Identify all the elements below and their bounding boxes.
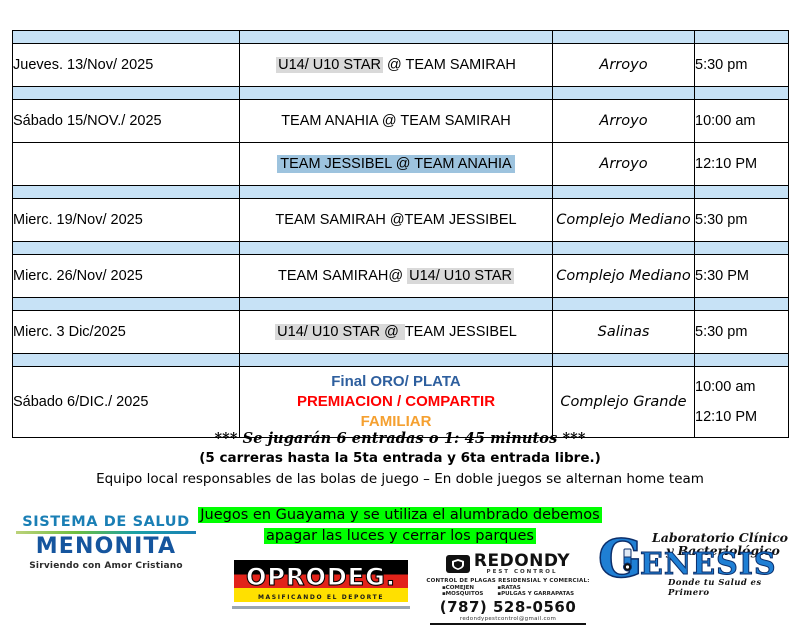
table-row-final: Sábado 6/DIC./ 2025 Final ORO/ PLATA PRE… [13, 367, 789, 438]
final-date: Sábado 6/DIC./ 2025 [13, 367, 240, 438]
row-match: U14/ U10 STAR @ TEAM JESSIBEL [240, 311, 553, 354]
oprodeg-tagline: MASIFICANDO EL DEPORTE [234, 594, 408, 601]
final-line-familiar: FAMILIAR [240, 412, 552, 432]
row-time: 5:30 pm [695, 199, 789, 242]
final-times: 10:00 am 12:10 PM [695, 367, 789, 438]
separator-cell [13, 354, 240, 367]
final-match: Final ORO/ PLATA PREMIACION / COMPARTIR … [240, 367, 553, 438]
table-row: Mierc. 3 Dic/2025 U14/ U10 STAR @ TEAM J… [13, 311, 789, 354]
schedule-flyer: Jueves. 13/Nov/ 2025 U14/ U10 STAR @ TEA… [0, 0, 800, 623]
final-venue: Complejo Grande [553, 367, 695, 438]
redondy-email: redondypestcontrol@gmail.com [424, 616, 592, 622]
note-line-1-text: Se jugarán 6 entradas o 1: 45 minutos [243, 430, 558, 447]
green-note-line-1-wrap: Juegos en Guayama y se utiliza el alumbr… [0, 505, 800, 526]
separator-cell [240, 298, 553, 311]
schedule-table-wrapper: Jueves. 13/Nov/ 2025 U14/ U10 STAR @ TEA… [12, 30, 788, 438]
separator-cell [695, 87, 789, 100]
notes-block: *** Se jugarán 6 entradas o 1: 45 minuto… [0, 430, 800, 487]
separator-row [13, 298, 789, 311]
separator-cell [240, 354, 553, 367]
row-venue: Arroyo [553, 44, 695, 87]
green-note-line-1: Juegos en Guayama y se utiliza el alumbr… [198, 507, 601, 523]
separator-cell [13, 186, 240, 199]
menonita-tagline: Sirviendo con Amor Cristiano [8, 561, 204, 571]
final-time-1: 10:00 am [695, 372, 788, 402]
row-time: 10:00 am [695, 100, 789, 143]
table-row: Sábado 15/NOV./ 2025 TEAM ANAHIA @ TEAM … [13, 100, 789, 143]
stars-left: *** [214, 430, 242, 447]
row-match: U14/ U10 STAR @ TEAM SAMIRAH [240, 44, 553, 87]
match-post: @ TEAM SAMIRAH [383, 57, 516, 73]
separator-row [13, 31, 789, 44]
redondy-items-left: COMEJEN MOSQUITOS [442, 585, 483, 597]
row-time: 12:10 PM [695, 143, 789, 186]
row-date: Sábado 15/NOV./ 2025 [13, 100, 240, 143]
note-line-2: (5 carreras hasta la 5ta entrada y 6ta e… [0, 450, 800, 466]
final-line-premiacion: PREMIACION / COMPARTIR [240, 392, 552, 412]
row-date [13, 143, 240, 186]
separator-cell [553, 354, 695, 367]
row-time: 5:30 pm [695, 311, 789, 354]
row-venue: Complejo Mediano [553, 255, 695, 298]
separator-cell [13, 31, 240, 44]
schedule-table: Jueves. 13/Nov/ 2025 U14/ U10 STAR @ TEA… [12, 30, 789, 438]
redondy-items-right: RATAS PULGAS Y GARRAPATAS [497, 585, 574, 597]
green-highlight-note: Juegos en Guayama y se utiliza el alumbr… [0, 505, 800, 547]
separator-cell [13, 87, 240, 100]
redondy-header: REDONDYPEST CONTROL [424, 553, 592, 576]
separator-cell [695, 31, 789, 44]
redondy-name-text: REDONDY [474, 551, 570, 571]
oprodeg-frame: OPRODEG. MASIFICANDO EL DEPORTE [232, 558, 410, 604]
row-time: 5:30 PM [695, 255, 789, 298]
note-line-1: *** Se jugarán 6 entradas o 1: 45 minuto… [0, 430, 800, 447]
redondy-wordmark: REDONDYPEST CONTROL [474, 553, 570, 576]
row-venue: Arroyo [553, 100, 695, 143]
row-match: TEAM JESSIBEL @ TEAM ANAHIA [240, 143, 553, 186]
match-pre: TEAM SAMIRAH @TEAM JESSIBEL [275, 212, 516, 228]
stars-right: *** [557, 430, 585, 447]
list-item: MOSQUITOS [442, 591, 483, 597]
redondy-category: CONTROL DE PLAGAS RESIDENSIAL Y COMERCIA… [424, 578, 592, 584]
separator-cell [553, 242, 695, 255]
match-highlight: TEAM JESSIBEL @ TEAM ANAHIA [277, 155, 514, 173]
separator-row [13, 242, 789, 255]
match-highlight: U14/ U10 STAR [407, 268, 514, 284]
match-post: TEAM JESSIBEL [405, 324, 517, 340]
genesis-wordmark: ENESIS [640, 550, 777, 580]
separator-cell [553, 31, 695, 44]
match-pre: TEAM SAMIRAH@ [278, 268, 407, 284]
separator-row [13, 87, 789, 100]
redondy-phone: (787) 528-0560 [424, 598, 592, 616]
green-note-line-2: apagar las luces y cerrar los parques [264, 528, 536, 544]
separator-cell [553, 298, 695, 311]
separator-cell [13, 242, 240, 255]
table-row: Mierc. 26/Nov/ 2025 TEAM SAMIRAH@ U14/ U… [13, 255, 789, 298]
row-match: TEAM SAMIRAH@ U14/ U10 STAR [240, 255, 553, 298]
genesis-tagline: Donde tu Salud es Primero [668, 578, 796, 598]
separator-cell [240, 87, 553, 100]
separator-cell [553, 186, 695, 199]
row-date: Mierc. 3 Dic/2025 [13, 311, 240, 354]
final-line-oro: Final ORO/ PLATA [240, 372, 552, 392]
separator-cell [695, 354, 789, 367]
separator-cell [240, 242, 553, 255]
oprodeg-rule [232, 606, 410, 609]
oprodeg-flag-bands: OPRODEG. MASIFICANDO EL DEPORTE [234, 560, 408, 602]
separator-row [13, 186, 789, 199]
row-date: Mierc. 26/Nov/ 2025 [13, 255, 240, 298]
separator-cell [240, 31, 553, 44]
final-time-2: 12:10 PM [695, 402, 788, 432]
match-highlight: U14/ U10 STAR @ [275, 324, 405, 340]
row-match: TEAM ANAHIA @ TEAM SAMIRAH [240, 100, 553, 143]
list-item: PULGAS Y GARRAPATAS [497, 591, 574, 597]
row-venue: Arroyo [553, 143, 695, 186]
logo-redondy: REDONDYPEST CONTROL CONTROL DE PLAGAS RE… [424, 553, 592, 619]
match-pre: TEAM ANAHIA @ TEAM SAMIRAH [281, 113, 511, 129]
separator-cell [695, 298, 789, 311]
green-note-line-2-wrap: apagar las luces y cerrar los parques [0, 526, 800, 547]
oprodeg-wordmark: OPRODEG. [234, 563, 408, 591]
row-venue: Salinas [553, 311, 695, 354]
separator-cell [13, 298, 240, 311]
redondy-service-items: COMEJEN MOSQUITOS RATAS PULGAS Y GARRAPA… [424, 585, 592, 597]
logo-oprodeg: OPRODEG. MASIFICANDO EL DEPORTE [232, 558, 410, 616]
note-line-3: Equipo local responsables de las bolas d… [0, 471, 800, 487]
separator-cell [695, 242, 789, 255]
table-row: Mierc. 19/Nov/ 2025 TEAM SAMIRAH @TEAM J… [13, 199, 789, 242]
shield-icon [446, 555, 470, 573]
row-date: Mierc. 19/Nov/ 2025 [13, 199, 240, 242]
table-row: TEAM JESSIBEL @ TEAM ANAHIA Arroyo 12:10… [13, 143, 789, 186]
separator-cell [240, 186, 553, 199]
row-time: 5:30 pm [695, 44, 789, 87]
table-row: Jueves. 13/Nov/ 2025 U14/ U10 STAR @ TEA… [13, 44, 789, 87]
separator-cell [695, 186, 789, 199]
separator-cell [553, 87, 695, 100]
redondy-subtitle: PEST CONTROL [474, 570, 570, 576]
match-highlight: U14/ U10 STAR [276, 57, 383, 73]
row-date: Jueves. 13/Nov/ 2025 [13, 44, 240, 87]
row-venue: Complejo Mediano [553, 199, 695, 242]
separator-row [13, 354, 789, 367]
row-match: TEAM SAMIRAH @TEAM JESSIBEL [240, 199, 553, 242]
